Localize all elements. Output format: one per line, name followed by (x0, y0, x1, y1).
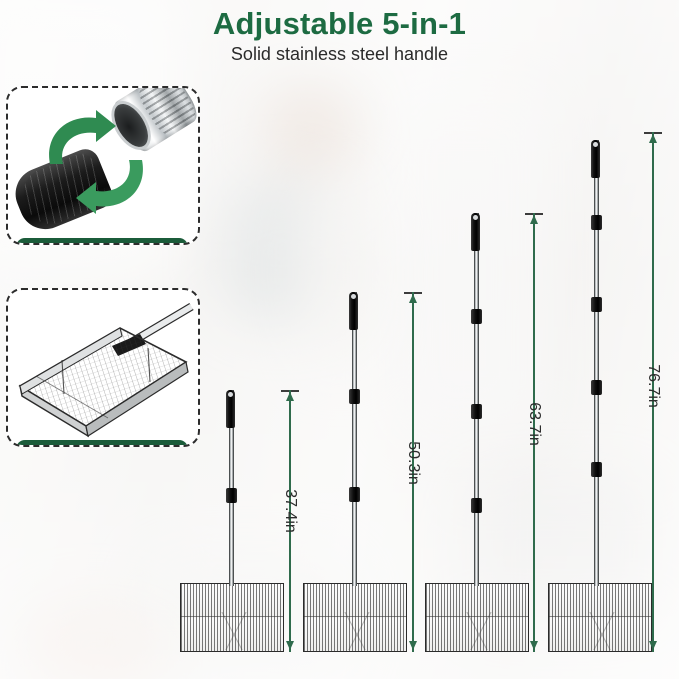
dimension-37-4in: 37.4in (275, 390, 305, 652)
rake-mesh-diagonals (563, 612, 641, 650)
callout-rotation-label: Easy rotation without hurting fingers (16, 238, 188, 245)
rake-pole (594, 140, 599, 586)
dimension-arrow-down (409, 641, 417, 650)
dimension-arrow-down (649, 641, 657, 650)
rake-collar (349, 487, 360, 502)
rake-head (303, 583, 407, 652)
rake-head (425, 583, 529, 652)
dimension-label: 63.7in (525, 400, 543, 448)
rake-grip (471, 213, 480, 251)
dimension-label: 50.3in (404, 439, 422, 487)
callout-rotation: Easy rotation without hurting fingers (6, 86, 200, 245)
rake-collar (591, 215, 602, 230)
rake-mesh-diagonals (195, 612, 273, 650)
rake-collar (471, 309, 482, 324)
page-subtitle: Solid stainless steel handle (0, 44, 679, 65)
product-infographic: Adjustable 5-in-1 Solid stainless steel … (0, 0, 679, 679)
callout-screws-frame: Reinforced screws, more durable (6, 288, 200, 447)
dimension-63-7in: 63.7in (519, 213, 549, 652)
rake-collar (591, 462, 602, 477)
rotation-arrows-icon (42, 106, 152, 216)
page-title: Adjustable 5-in-1 (0, 6, 679, 42)
dimension-arrow-up (649, 134, 657, 143)
rake-collar (471, 498, 482, 513)
dimension-arrow-down (530, 641, 538, 650)
dimension-arrow-up (530, 215, 538, 224)
rake-collar (471, 404, 482, 419)
callout-rotation-frame: Easy rotation without hurting fingers (6, 86, 200, 245)
rake-collar (591, 297, 602, 312)
rake-head (548, 583, 652, 652)
dimension-label: 37.4in (281, 487, 299, 535)
rake-collar (591, 380, 602, 395)
callout-screws-label: Reinforced screws, more durable (16, 440, 188, 447)
rake-pole (352, 292, 357, 586)
rake-grip (591, 140, 600, 178)
rake-head (180, 583, 284, 652)
rake-collar (226, 488, 237, 503)
dimension-arrow-down (286, 641, 294, 650)
dimension-label: 76.7in (644, 362, 662, 410)
rake-grip (349, 292, 358, 330)
dimension-arrow-up (286, 392, 294, 401)
rake-collar (349, 389, 360, 404)
mesh-rake-head-icon (8, 290, 198, 445)
rake-grip (226, 390, 235, 428)
callout-screws: Reinforced screws, more durable (6, 288, 200, 447)
dimension-50-3in: 50.3in (398, 292, 428, 652)
rake-pole (474, 213, 479, 586)
dimension-76-7in: 76.7in (638, 132, 668, 652)
rake-mesh-diagonals (318, 612, 396, 650)
rotation-illustration (8, 88, 198, 243)
rake-mesh-diagonals (440, 612, 518, 650)
dimension-arrow-up (409, 294, 417, 303)
